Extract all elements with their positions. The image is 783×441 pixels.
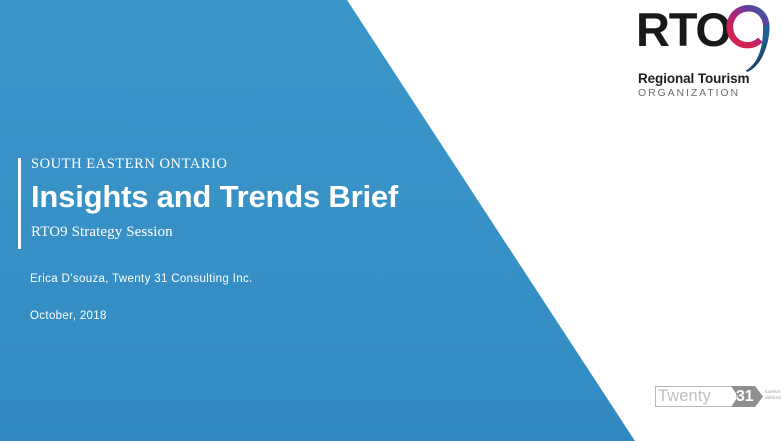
title-block: SOUTH EASTERN ONTARIO Insights and Trend… — [31, 155, 461, 242]
twenty31-tagline: tourism defined — [765, 389, 781, 401]
twenty31-number-text: 31 — [736, 387, 753, 406]
rto9-tagline-line2: ORGANIZATION — [638, 88, 740, 99]
rto9-tagline-line1: Regional Tourism — [638, 72, 749, 86]
rto9-wordmark-text: RTO — [636, 6, 731, 53]
twenty31-logo: Twenty 31 tourism defined — [655, 386, 777, 410]
subtitle-text: RTO9 Strategy Session — [31, 223, 461, 242]
date-text: October, 2018 — [30, 309, 460, 324]
byline-block: Erica D’souza, Twenty 31 Consulting Inc.… — [30, 272, 460, 324]
eyebrow-text: SOUTH EASTERN ONTARIO — [31, 155, 461, 173]
page-title: Insights and Trends Brief — [31, 178, 461, 216]
rto9-numeral-swirl-icon — [725, 4, 777, 72]
author-text: Erica D’souza, Twenty 31 Consulting Inc. — [30, 272, 460, 287]
title-accent-bar — [18, 158, 21, 249]
twenty31-word-text: Twenty — [658, 387, 711, 406]
twenty31-tagline-line2: defined — [765, 395, 781, 401]
title-slide: SOUTH EASTERN ONTARIO Insights and Trend… — [0, 0, 783, 441]
rto9-logo: RTO — [632, 6, 778, 104]
